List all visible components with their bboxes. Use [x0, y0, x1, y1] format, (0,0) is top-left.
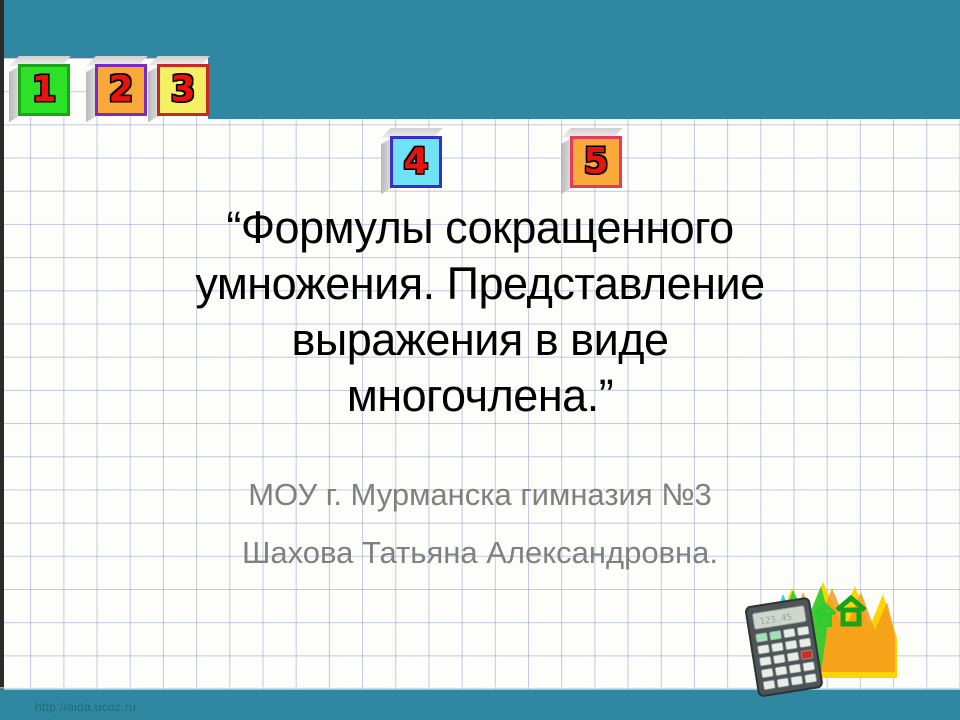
title-line-4: многочлена.”: [80, 368, 880, 424]
cube-number-label: 2: [108, 72, 133, 108]
left-edge-strip: [0, 0, 4, 720]
cube-front-face: 5: [570, 136, 622, 188]
slide-subtitle: МОУ г. Мурманска гимназия №3 Шахова Тать…: [80, 466, 880, 582]
title-line-1: “Формулы сокращенного: [80, 200, 880, 256]
number-cube-4: 4: [390, 136, 442, 188]
cube-number-label: 4: [403, 144, 428, 180]
subtitle-line-school: МОУ г. Мурманска гимназия №3: [80, 466, 880, 524]
cube-front-face: 4: [390, 136, 442, 188]
cube-number-label: 1: [31, 72, 56, 108]
number-cube-3: 3: [157, 64, 209, 116]
calculator-icon: 123.45: [737, 568, 912, 698]
number-cube-2: 2: [95, 64, 147, 116]
cube-front-face: 1: [18, 64, 70, 116]
number-cube-5: 5: [570, 136, 622, 188]
title-line-3: выражения в виде: [80, 312, 880, 368]
calculator-with-charts-graphic: 123.45: [737, 568, 912, 698]
title-line-2: умножения. Представление: [80, 256, 880, 312]
presentation-slide: http://aida.ucoz.ru 1 2 3 4 5: [0, 0, 960, 720]
cube-front-face: 2: [95, 64, 147, 116]
cube-number-label: 5: [583, 144, 608, 180]
header-band-right: [208, 0, 960, 119]
watermark-text: http://aida.ucoz.ru: [35, 700, 136, 714]
cube-number-label: 3: [170, 72, 195, 108]
cube-front-face: 3: [157, 64, 209, 116]
number-cube-1: 1: [18, 64, 70, 116]
slide-title: “Формулы сокращенного умножения. Предста…: [80, 200, 880, 424]
